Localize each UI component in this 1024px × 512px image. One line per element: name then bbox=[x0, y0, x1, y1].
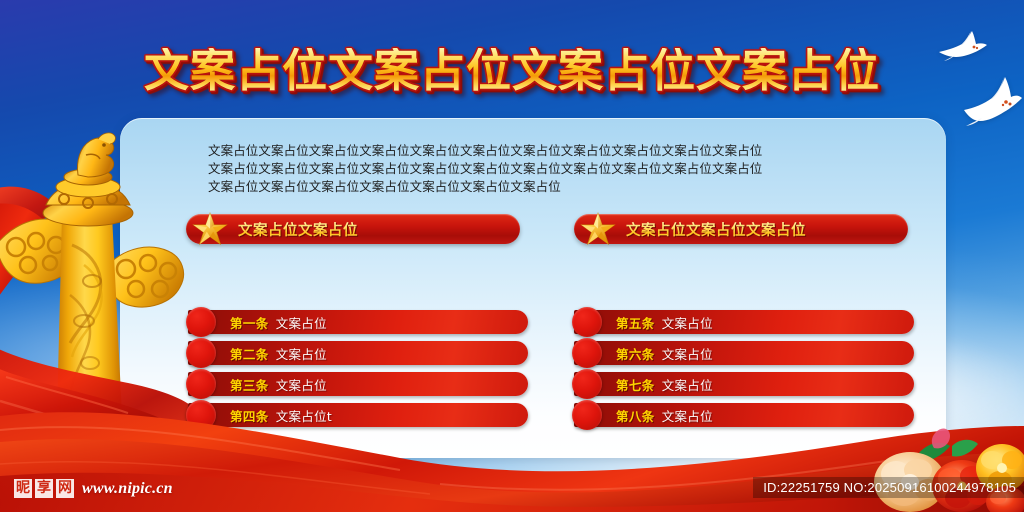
logo-char-2: 享 bbox=[35, 479, 53, 498]
body-paragraph: 文案占位文案占位文案占位文案占位文案占位文案占位文案占位文案占位文案占位文案占位… bbox=[208, 142, 908, 196]
section-header-right[interactable]: 文案占位文案占位文案占位 bbox=[574, 214, 908, 244]
gold-star-icon bbox=[190, 209, 230, 249]
list-item-text: 文案占位 bbox=[662, 344, 713, 363]
peony-flower-icon bbox=[874, 424, 1024, 512]
watermark-url: www.nipic.cn bbox=[82, 480, 173, 498]
nipic-logo-icon: 昵 享 网 bbox=[14, 479, 74, 498]
logo-char-3: 网 bbox=[56, 479, 74, 498]
list-item-text: 文案占位 bbox=[276, 344, 327, 363]
list-item-number: 第六条 bbox=[616, 344, 655, 363]
list-item[interactable]: 第六条 文案占位 bbox=[574, 341, 914, 365]
list-item-number: 第一条 bbox=[230, 313, 269, 332]
bullet-circle-icon bbox=[186, 307, 216, 337]
list-item[interactable]: 第一条 文案占位 bbox=[188, 310, 528, 334]
list-item-text: 文案占位 bbox=[662, 313, 713, 332]
poster-title-text: 文案占位文案占位文案占位文案占位 bbox=[144, 48, 880, 93]
body-line-3: 文案占位文案占位文案占位文案占位文案占位文案占位文案占位 bbox=[208, 178, 908, 196]
gold-star-icon bbox=[578, 209, 618, 249]
body-line-2: 文案占位文案占位文案占位文案占位文案占位文案占位文案占位文案占位文案占位文案占位… bbox=[208, 160, 908, 178]
bullet-circle-icon bbox=[572, 307, 602, 337]
body-line-1: 文案占位文案占位文案占位文案占位文案占位文案占位文案占位文案占位文案占位文案占位… bbox=[208, 142, 908, 160]
list-item[interactable]: 第二条 文案占位 bbox=[188, 341, 528, 365]
bullet-circle-icon bbox=[572, 338, 602, 368]
logo-char-1: 昵 bbox=[14, 479, 32, 498]
bullet-circle-icon bbox=[186, 338, 216, 368]
poster-title: 文案占位文案占位文案占位文案占位 bbox=[0, 48, 1024, 93]
list-item-text: 文案占位 bbox=[276, 313, 327, 332]
list-item-number: 第五条 bbox=[616, 313, 655, 332]
poster-canvas: 文案占位文案占位文案占位文案占位文案占位文案占位文案占位文案占位文案占位文案占位… bbox=[0, 0, 1024, 512]
section-header-left-label: 文案占位文案占位 bbox=[238, 219, 358, 240]
image-id-label: ID:22251759 NO:20250916100244978105 bbox=[753, 477, 1024, 498]
section-header-left[interactable]: 文案占位文案占位 bbox=[186, 214, 520, 244]
section-header-right-label: 文案占位文案占位文案占位 bbox=[626, 219, 806, 240]
site-watermark: 昵 享 网 www.nipic.cn bbox=[14, 479, 173, 498]
list-item[interactable]: 第五条 文案占位 bbox=[574, 310, 914, 334]
list-item-number: 第二条 bbox=[230, 344, 269, 363]
